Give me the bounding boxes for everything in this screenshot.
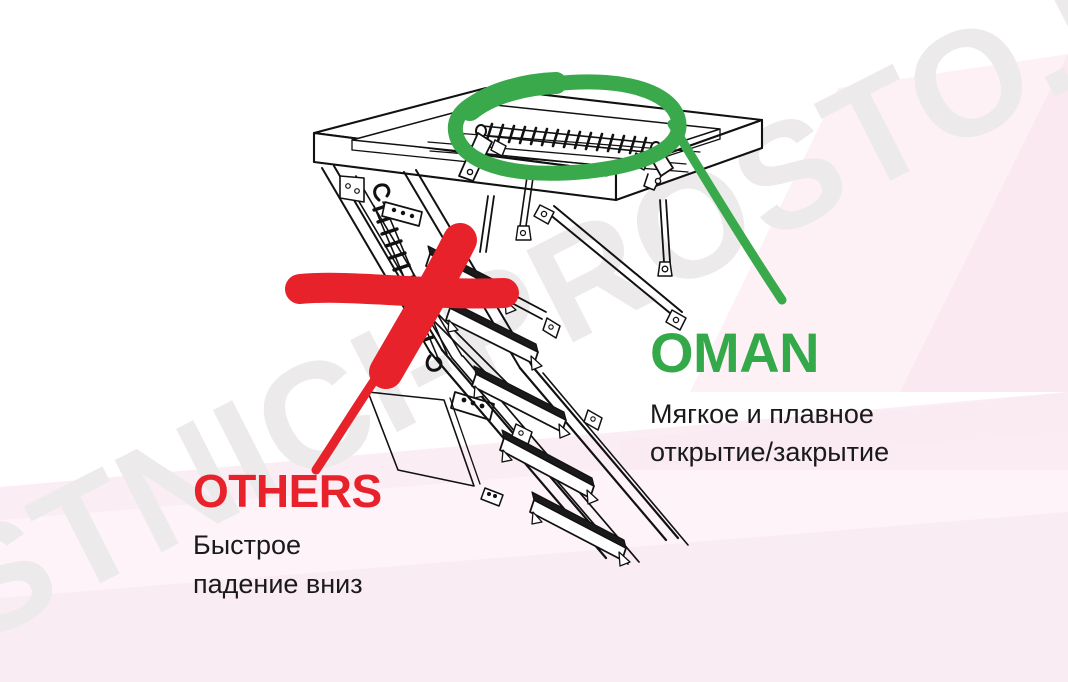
- others-description-line1: Быстрое: [193, 526, 523, 565]
- oman-description-line1: Мягкое и плавное: [650, 395, 980, 433]
- others-label-block: OTHERS Быстрое падение вниз: [193, 468, 523, 604]
- others-description-line2: падение вниз: [193, 565, 523, 604]
- green-pointer-line: [672, 124, 782, 300]
- green-oval-highlight: [455, 82, 679, 173]
- red-pointer-line: [316, 366, 384, 470]
- red-cross-mark: [300, 236, 504, 372]
- oman-description: Мягкое и плавное открытие/закрытие: [650, 395, 980, 472]
- oman-label-block: OMAN Мягкое и плавное открытие/закрытие: [650, 325, 980, 472]
- illustration-canvas: LESTNICI-PROSTO.RU: [0, 0, 1068, 682]
- oman-description-line2: открытие/закрытие: [650, 433, 980, 471]
- oman-title: OMAN: [650, 325, 980, 381]
- others-description: Быстрое падение вниз: [193, 526, 523, 604]
- others-title: OTHERS: [193, 468, 523, 514]
